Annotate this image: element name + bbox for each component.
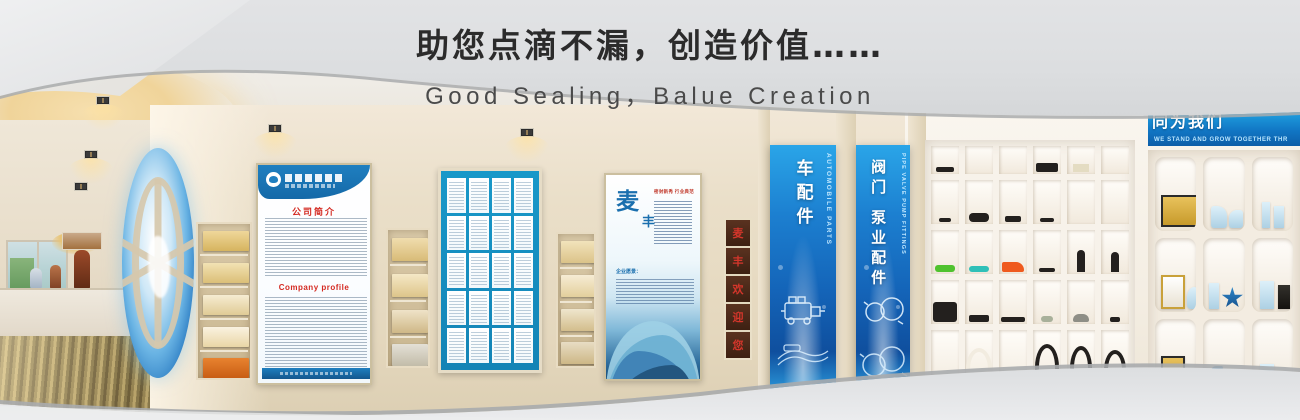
- award-cell: [1252, 157, 1293, 231]
- shelf-cell: [1033, 330, 1061, 392]
- banner-title-en: AUTOMOBILE PARTS: [825, 153, 832, 246]
- wall-picture: [62, 232, 102, 250]
- award-cell: [1203, 238, 1244, 312]
- award-plaque: [561, 309, 595, 331]
- seal-product: [969, 266, 989, 272]
- crystal-trophy: [1260, 364, 1274, 390]
- crystal-trophy: [1262, 202, 1270, 228]
- seal-product: [1077, 250, 1085, 272]
- company-brand-subtitle: [285, 184, 335, 188]
- crystal-trophy: [1278, 372, 1290, 390]
- seal-product: [1001, 317, 1025, 322]
- crystal-trophy: [1209, 283, 1219, 309]
- globe-feature-wall: [122, 148, 194, 378]
- company-logo-icon: [266, 172, 281, 187]
- ceiling-spotlight: [74, 182, 88, 191]
- product-display-shelf: [925, 140, 1135, 398]
- crystal-trophy: [1229, 210, 1243, 228]
- seal-product: [1002, 262, 1024, 272]
- crystal-trophy: [1274, 206, 1284, 228]
- award-niche-middle: [386, 228, 430, 368]
- certificate: [514, 253, 533, 288]
- award-plaque: [203, 358, 249, 378]
- banner-pipe-valve-pump-fittings: 阀门 泵业配件 PIPE VALVE PUMP FITTINGS: [856, 145, 910, 397]
- award-plaque: [392, 344, 428, 366]
- shelf-cell: [999, 330, 1027, 392]
- certificate: [492, 328, 511, 363]
- crystal-trophy: [1278, 285, 1290, 309]
- award-plaque: [392, 238, 428, 261]
- seal-product: [969, 213, 989, 222]
- spotlight-glow: [80, 104, 126, 130]
- award-plaque: [392, 274, 428, 297]
- award-plaque: [561, 241, 595, 263]
- shelf-cell: [965, 146, 993, 174]
- seal-product: [1111, 252, 1119, 272]
- shelf-cell: [931, 180, 959, 224]
- certificate: [469, 216, 488, 251]
- certificate: [492, 291, 511, 326]
- shelf-cell: [1101, 280, 1129, 324]
- certificate: [447, 216, 466, 251]
- company-profile-poster: 公司简介 Company profile: [256, 163, 372, 385]
- award-cell: [1155, 238, 1196, 312]
- poster-heading: 密封新秀 行业典范: [654, 189, 694, 195]
- shelf-cell: [965, 180, 993, 224]
- shelf-cell: [931, 280, 959, 324]
- poster-footer-band: [262, 368, 370, 379]
- seal-product: [1040, 218, 1054, 222]
- shelf-cell: [1033, 146, 1061, 174]
- shelf-cell: [1067, 330, 1095, 392]
- certificate: [492, 253, 511, 288]
- certificate: [492, 178, 511, 213]
- certificate: [447, 253, 466, 288]
- vision-label: 企业愿景：: [616, 268, 641, 275]
- certificate: [492, 216, 511, 251]
- crystal-trophy: [1211, 206, 1227, 228]
- award-plaque: [392, 310, 428, 333]
- welcome-cell: 麦: [726, 220, 750, 248]
- poster-bullet-list: [654, 201, 692, 245]
- certificate: [469, 178, 488, 213]
- shelf-cell: [1067, 146, 1095, 174]
- award-plaque: [203, 295, 249, 315]
- vase-blue: [30, 268, 42, 290]
- award-cell: [1155, 157, 1196, 231]
- certificate: [469, 253, 488, 288]
- seal-strip-icon: [774, 341, 832, 371]
- shelf-cell: [1101, 230, 1129, 274]
- shelf-cell: [931, 146, 959, 174]
- seal-product: [969, 315, 989, 322]
- crystal-trophy: [1187, 287, 1196, 309]
- star-award: [1221, 287, 1243, 309]
- welcome-cell: 迎: [726, 304, 750, 332]
- crystal-trophy: [1260, 281, 1274, 309]
- wall-pillar: [758, 105, 770, 420]
- awards-banner-cn: 同为我们: [1152, 112, 1224, 132]
- poster-title-cn: 公司简介: [258, 205, 370, 218]
- clamp-ring-icon: [858, 343, 908, 381]
- shelf-cell: [1067, 230, 1095, 274]
- certificate: [447, 328, 466, 363]
- seal-product: [936, 167, 954, 172]
- shelf-cell: [1067, 280, 1095, 324]
- awards-header-banner: 同为我们 WE STAND AND GROW TOGETHER THR: [1148, 112, 1300, 146]
- awards-banner-en: WE STAND AND GROW TOGETHER THR: [1154, 137, 1288, 143]
- welcome-char: 麦: [733, 225, 744, 241]
- spotlight-glow: [504, 136, 550, 162]
- crystal-trophy: [1227, 370, 1244, 390]
- seal-product: [1110, 317, 1120, 322]
- seal-product: [932, 376, 958, 390]
- shelf-cell: [1067, 180, 1095, 224]
- poster-body-en: [265, 297, 367, 367]
- hose-product: [966, 348, 992, 390]
- award-niche-right: [556, 232, 596, 368]
- certificate: [514, 291, 533, 326]
- banner-title-cn: 车配件: [791, 159, 816, 231]
- shelf-cell: [999, 280, 1027, 324]
- shelf-cell: [999, 230, 1027, 274]
- crystal-trophy: [1188, 372, 1196, 390]
- shelf-cell: [1033, 180, 1061, 224]
- certificate: [514, 328, 533, 363]
- vase-red: [50, 265, 61, 290]
- welcome-char: 欢: [733, 281, 744, 297]
- welcome-char: 您: [733, 337, 744, 353]
- welcome-cell: 您: [726, 332, 750, 358]
- certificate: [514, 216, 533, 251]
- showroom-hero-banner: 公司简介 Company profile: [0, 0, 1300, 420]
- shelf-cell: [965, 280, 993, 324]
- shelf-cell: [931, 230, 959, 274]
- seal-product: [1005, 216, 1021, 222]
- poster-body-cn: [265, 218, 367, 278]
- banner-title-cn: 阀门 泵业配件: [868, 159, 889, 289]
- seal-product: [1001, 378, 1025, 390]
- seal-product: [1041, 316, 1053, 322]
- certificate: [469, 328, 488, 363]
- shelf-cell: [999, 180, 1027, 224]
- clamp-ring-icon: [860, 295, 906, 329]
- award-cell: [1203, 319, 1244, 393]
- shelf-cell: [1101, 180, 1129, 224]
- showroom-photo: 公司简介 Company profile: [0, 0, 1300, 420]
- certificate: [447, 178, 466, 213]
- certificate-board: [438, 168, 542, 373]
- brand-char-mai: 麦: [616, 191, 639, 214]
- globe-landmass: [148, 236, 170, 298]
- company-brand-name: [285, 174, 343, 182]
- certificate: [514, 178, 533, 213]
- award-plaque: [203, 327, 249, 347]
- welcome-cell: 欢: [726, 276, 750, 304]
- award-cell: [1252, 238, 1293, 312]
- welcome-niche: 麦 丰 欢 迎 您: [724, 218, 752, 360]
- award-plaque: [561, 342, 595, 364]
- hose-product: [1104, 350, 1126, 390]
- shelf-cell: [1101, 330, 1129, 392]
- spotlight-glow: [252, 132, 298, 158]
- award-niche-left: [196, 222, 252, 380]
- award-plaque: [203, 263, 249, 283]
- crystal-trophy: [1209, 366, 1223, 390]
- shelf-cell: [965, 230, 993, 274]
- award-cell: [1155, 319, 1196, 393]
- certificate: [447, 291, 466, 326]
- spotlight-glow: [68, 158, 114, 184]
- engine-icon: [777, 291, 829, 327]
- award-cell: [1252, 319, 1293, 393]
- banner-title-en: PIPE VALVE PUMP FITTINGS: [900, 153, 906, 255]
- welcome-char: 丰: [733, 253, 744, 269]
- seal-product: [935, 265, 955, 272]
- award-plaque: [203, 231, 249, 251]
- certificate: [469, 291, 488, 326]
- decor-statue: [74, 250, 90, 290]
- vision-body: [616, 279, 694, 305]
- shelf-cell: [965, 330, 993, 392]
- banner-automobile-parts: 车配件 AUTOMOBILE PARTS: [770, 145, 836, 397]
- gold-plaque: [1161, 356, 1185, 390]
- vision-poster: 麦 丰 密封新秀 行业典范 企业愿景：: [604, 173, 702, 381]
- award-cell: [1203, 157, 1244, 231]
- award-cabinet: [1148, 150, 1300, 400]
- wall-pillar: [908, 105, 926, 420]
- gold-certificate: [1161, 195, 1196, 227]
- shelf-cell: [1101, 146, 1129, 174]
- wall-pillar: [836, 105, 856, 420]
- seal-product: [1073, 314, 1089, 322]
- welcome-cell: 丰: [726, 248, 750, 276]
- hose-product: [1035, 344, 1059, 390]
- seal-product: [933, 302, 957, 322]
- shelf-cell: [931, 330, 959, 392]
- seal-product: [939, 218, 951, 222]
- award-plaque: [561, 275, 595, 297]
- seal-product: [1036, 163, 1058, 172]
- welcome-char: 迎: [733, 309, 744, 325]
- seal-product: [1073, 164, 1089, 172]
- shelf-cell: [999, 146, 1027, 174]
- seal-product: [1039, 268, 1055, 272]
- framed-certificate: [1161, 275, 1185, 309]
- hose-product: [1070, 346, 1092, 390]
- shelf-cell: [1033, 230, 1061, 274]
- shelf-cell: [1033, 280, 1061, 324]
- poster-title-en: Company profile: [258, 283, 370, 292]
